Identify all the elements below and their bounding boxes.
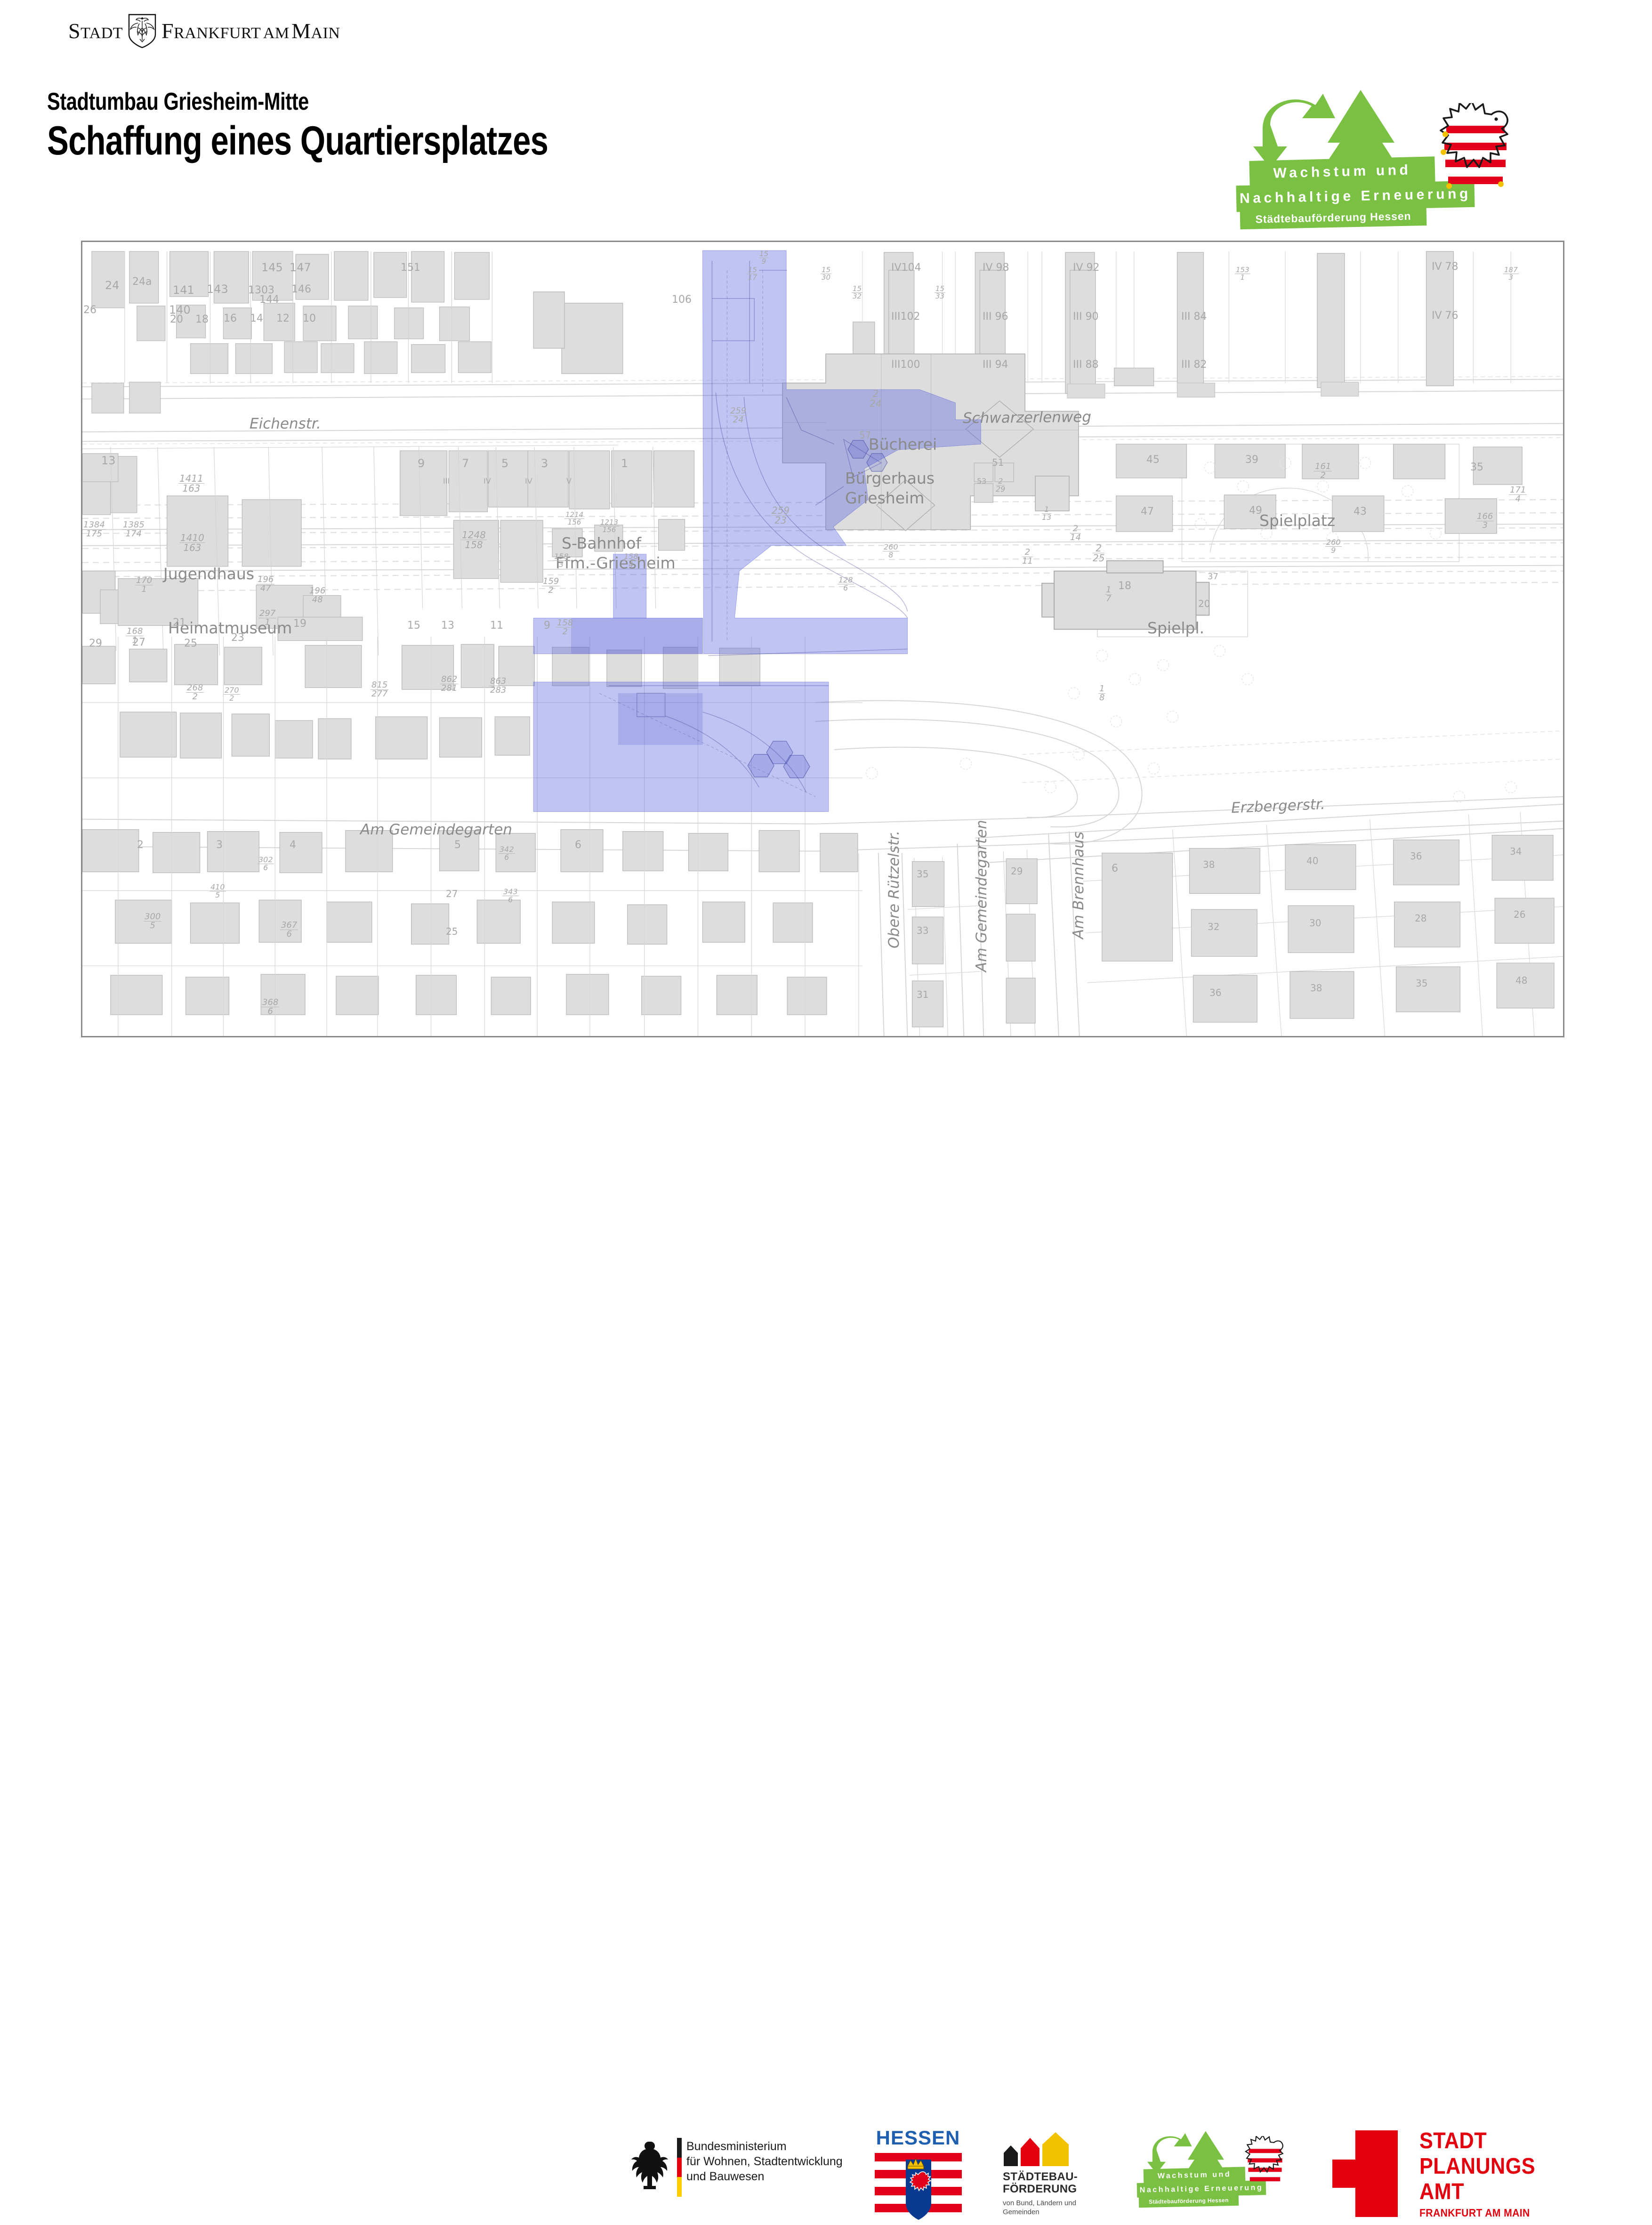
parcel-number: III 82 xyxy=(1181,359,1207,371)
parcel-number: 32 xyxy=(1208,921,1219,932)
parcel-fraction: 225 xyxy=(1093,543,1104,563)
parcel-fraction: 229 xyxy=(996,477,1005,493)
parcel-fraction: 25923 xyxy=(771,506,790,525)
parcel-number: 37 xyxy=(1208,572,1218,582)
parcel-number: 25 xyxy=(184,638,197,649)
parcel-number: 38 xyxy=(1203,859,1215,870)
parcel-number: 21 xyxy=(173,617,186,629)
parcel-fraction: 1714 xyxy=(1509,486,1527,503)
parcel-number: 144 xyxy=(259,294,279,306)
map-street-label: Am Gemeindegarten xyxy=(973,820,990,972)
parcel-number: 12 xyxy=(276,313,290,324)
parcel-fraction: 224 xyxy=(870,389,881,408)
parcel-fraction: 1248158 xyxy=(461,530,487,550)
parcel-fraction: 3005 xyxy=(144,913,161,930)
parcel-fraction: 19648 xyxy=(308,587,326,604)
stadtplanungsamt-title: STADT PLANUNGS AMT xyxy=(1419,2128,1535,2204)
parcel-fraction: 1582 xyxy=(556,619,574,636)
parcel-number: 16 xyxy=(224,313,237,324)
parcel-number: III 88 xyxy=(1073,359,1098,371)
program-logo-band-3: Städtebauförderung Hessen xyxy=(1240,206,1427,229)
stadtplanungsamt-line-2: PLANUNGS xyxy=(1419,2154,1535,2179)
page-footer: Bundesministerium für Wohnen, Stadtentwi… xyxy=(0,1060,1652,1168)
parcel-number: 36 xyxy=(1209,987,1221,998)
bmwsb-line-3: und Bauwesen xyxy=(686,2169,843,2184)
stadtplanungsamt-subtitle: FRANKFURT AM MAIN xyxy=(1419,2207,1530,2219)
parcel-number: IV104 xyxy=(891,262,921,274)
hessen-title: HESSEN xyxy=(873,2127,963,2149)
parcel-fraction: 2608 xyxy=(883,543,899,559)
parcel-number: 5 xyxy=(454,839,461,851)
map-street-label: Am Gemeindegarten xyxy=(360,821,512,838)
parcel-fraction: 4105 xyxy=(210,883,226,899)
parcel-fraction: 863283 xyxy=(489,677,507,695)
parcel-number: 35 xyxy=(1470,461,1483,473)
program-logo-line-1: Wachstum und xyxy=(1273,162,1411,181)
parcel-number: 5 xyxy=(501,457,508,470)
parcel-number: III 96 xyxy=(983,311,1008,323)
parcel-number: 3 xyxy=(541,457,548,470)
parcel-fraction: 3426 xyxy=(499,846,515,861)
parcel-number: 13 xyxy=(441,620,454,631)
map-place-label: Spielpl. xyxy=(1147,619,1204,637)
program-logo-line-1: Wachstum und xyxy=(1158,2170,1232,2181)
program-logo-line-3: Städtebauförderung Hessen xyxy=(1255,210,1411,226)
parcel-number: 1 xyxy=(621,457,628,470)
city-logo-frankfurt-am-main: FRANKFURT AM MAIN xyxy=(161,20,340,42)
parcel-number: 27 xyxy=(446,888,458,899)
parcel-number: 9 xyxy=(544,620,550,631)
parcel-number: 6 xyxy=(1112,863,1118,874)
parcel-number: 13 xyxy=(101,454,116,467)
parcel-number: 24 xyxy=(105,279,120,292)
parcel-number: 2 xyxy=(137,839,144,851)
parcel-fraction: 862281 xyxy=(440,675,458,693)
page-header: STADT FRANKFUR xyxy=(0,0,1652,221)
parcel-number: 10 xyxy=(303,313,316,324)
parcel-number: 11 xyxy=(490,620,503,631)
parcel-number: 27 xyxy=(132,637,145,648)
parcel-fraction: 1411163 xyxy=(178,474,204,493)
parcel-number: IV 76 xyxy=(1432,310,1459,322)
parcel-fraction: 1531 xyxy=(1235,267,1250,281)
map-place-label: S-Bahnhof xyxy=(562,534,641,552)
parcel-fraction: 1286 xyxy=(838,576,854,592)
parcel-number: III 90 xyxy=(1073,311,1098,323)
parcel-number: 30 xyxy=(1309,917,1321,929)
parcel-fraction: 1532 xyxy=(852,285,862,300)
parcel-fraction: 1592 xyxy=(542,577,560,595)
parcel-number: 51 xyxy=(992,457,1004,468)
parcel-fraction: 2682 xyxy=(186,684,204,701)
parcel-number: III 94 xyxy=(983,359,1008,371)
hessen-logo: HESSEN xyxy=(873,2127,963,2223)
page-title: Schaffung eines Quartiersplatzes xyxy=(47,118,548,164)
bmwsb-label: Bundesministerium für Wohnen, Stadtentwi… xyxy=(686,2139,843,2184)
parcel-number: 14 xyxy=(250,313,263,324)
parcel-number: 53 xyxy=(977,477,986,485)
map-vector-layer xyxy=(82,242,1563,1037)
map-place-label: Griesheim xyxy=(845,489,924,507)
parcel-number: 147 xyxy=(290,261,311,274)
parcel-fraction: 2702 xyxy=(224,687,240,702)
parcel-fraction: 1385174 xyxy=(122,521,145,538)
parcel-fraction: 1214156 xyxy=(564,511,584,526)
parcel-number: 24a xyxy=(132,276,152,288)
parcel-fraction: 211 xyxy=(1022,548,1033,566)
parcel-number: 141 xyxy=(173,283,194,297)
parcel-number: 23 xyxy=(231,632,244,644)
parcel-number: 29 xyxy=(89,638,102,649)
parcel-number: 146 xyxy=(291,283,311,295)
parcel-fraction: 2971 xyxy=(258,609,276,627)
map-place-label: Bürgerhaus xyxy=(845,469,935,487)
spa-block-mark-icon xyxy=(1332,2130,1403,2217)
parcel-number: 48 xyxy=(1515,975,1527,986)
staedtebaufoerderung-sub-2: Gemeinden xyxy=(1003,2208,1116,2217)
parcel-number: III102 xyxy=(891,311,920,323)
parcel-fraction: 3436 xyxy=(502,888,519,904)
city-of-frankfurt-logo: STADT FRANKFUR xyxy=(68,13,370,49)
parcel-number: 18 xyxy=(195,314,209,325)
program-logo-line-3: Städtebauförderung Hessen xyxy=(1149,2197,1229,2205)
parcel-number: 143 xyxy=(207,283,228,296)
parcel-number: 49 xyxy=(1249,505,1262,517)
parcel-number: 36 xyxy=(1410,850,1422,862)
parcel-number: 20 xyxy=(170,314,183,325)
parcel-level: IV xyxy=(484,477,491,485)
parcel-fraction: 1517 xyxy=(747,267,758,281)
project-subtitle: Stadtumbau Griesheim-Mitte xyxy=(47,88,309,116)
parcel-fraction: 1612 xyxy=(1314,462,1332,480)
parcel-number: 9 xyxy=(418,457,425,470)
cadastral-map[interactable]: Eichenstr. Schwarzerlenweg Am Gemeindega… xyxy=(81,241,1564,1037)
parcel-fraction: 1583 xyxy=(553,553,570,568)
map-place-label: Ffm.-Griesheim xyxy=(556,554,676,572)
parcel-number: 39 xyxy=(1245,454,1258,466)
parcel-fraction: 815277 xyxy=(371,681,388,698)
staedtebaufoerderung-logo: STÄDTEBAU- FÖRDERUNG von Bund, Ländern u… xyxy=(1003,2132,1116,2224)
parcel-fraction: 3026 xyxy=(258,856,274,872)
parcel-fraction: 1384175 xyxy=(82,521,106,538)
parcel-fraction: 1663 xyxy=(1476,512,1494,530)
parcel-fraction: 3686 xyxy=(261,998,279,1016)
bundesadler-icon xyxy=(626,2140,671,2195)
parcel-fraction: 18 xyxy=(1098,685,1105,702)
map-street-label: Eichenstr. xyxy=(250,415,321,432)
stadtplanungsamt-logo: STADT PLANUNGS AMT FRANKFURT AM MAIN xyxy=(1332,2128,1596,2220)
three-houses-icon xyxy=(1003,2132,1116,2166)
german-flag-bar xyxy=(677,2138,682,2197)
parcel-number: 28 xyxy=(1415,913,1426,924)
parcel-number: 20 xyxy=(1198,598,1210,609)
stadtplanungsamt-line-3: AMT xyxy=(1419,2179,1535,2205)
staedtebaufoerderung-line-1: STÄDTEBAU- xyxy=(1003,2171,1116,2183)
parcel-number: 26 xyxy=(1514,909,1525,920)
parcel-fraction: 1410163 xyxy=(179,533,205,552)
parcel-fraction: 25924 xyxy=(729,407,747,424)
stadtplanungsamt-line-1: STADT xyxy=(1419,2128,1535,2154)
parcel-number: 26 xyxy=(83,304,97,316)
parcel-fraction: 19647 xyxy=(257,575,274,593)
parcel-number: III100 xyxy=(891,359,920,371)
parcel-number: 45 xyxy=(1146,454,1160,466)
parcel-fraction: 1701 xyxy=(135,576,153,594)
staedtebaufoerderung-title: STÄDTEBAU- FÖRDERUNG xyxy=(1003,2171,1116,2196)
parcel-fraction: 1873 xyxy=(1503,267,1519,281)
parcel-level: V xyxy=(566,477,572,485)
map-street-label: Am Brennhaus xyxy=(1070,832,1087,939)
parcel-level: IV xyxy=(525,477,532,485)
parcel-number: 33 xyxy=(917,925,928,936)
map-street-label: Obere Rützelstr. xyxy=(886,831,903,948)
bmwsb-line-2: für Wohnen, Stadtentwicklung xyxy=(686,2154,843,2169)
parcel-number: 40 xyxy=(1306,855,1318,866)
bmwsb-line-1: Bundesministerium xyxy=(686,2139,843,2154)
parcel-number: IV 92 xyxy=(1073,262,1100,274)
parcel-number: 151 xyxy=(401,262,420,274)
city-logo-stadt: STADT xyxy=(68,20,123,42)
staedtebaufoerderung-subtitle: von Bund, Ländern und Gemeinden xyxy=(1003,2199,1116,2217)
parcel-number: 4 xyxy=(290,839,296,851)
staedtebaufoerderung-line-2: FÖRDERUNG xyxy=(1003,2183,1116,2195)
parcel-fraction: 113 xyxy=(1042,506,1051,521)
parcel-number: IV 98 xyxy=(983,262,1009,274)
parcel-fraction: 214 xyxy=(1070,525,1081,542)
parcel-number: 18 xyxy=(1118,580,1131,592)
frankfurt-eagle-crest-icon xyxy=(128,14,157,49)
parcel-number: 25 xyxy=(446,926,458,937)
map-place-label: Bücherei xyxy=(869,435,937,453)
program-logo-band-3: Städtebauförderung Hessen xyxy=(1139,2194,1239,2208)
parcel-number: 35 xyxy=(917,868,928,880)
parcel-number: III 84 xyxy=(1181,311,1207,323)
parcel-number: 19 xyxy=(293,618,306,630)
parcel-number: 15 xyxy=(407,620,420,631)
hessen-lion-icon xyxy=(1433,103,1518,202)
hessen-shield-icon xyxy=(875,2152,962,2223)
parcel-fraction: 3676 xyxy=(280,921,298,939)
parcel-number: 29 xyxy=(1011,866,1023,877)
parcel-number: 38 xyxy=(1310,982,1322,994)
parcel-number: IV 78 xyxy=(1432,261,1459,273)
parcel-number: 34 xyxy=(1510,846,1522,857)
parcel-number: 3 xyxy=(216,839,223,851)
map-place-label: Spielplatz xyxy=(1259,511,1335,530)
parcel-number: 43 xyxy=(1354,506,1367,518)
parcel-fraction: 159 xyxy=(758,251,769,265)
parcel-number: 47 xyxy=(1141,506,1154,518)
bmwsb-logo: Bundesministerium für Wohnen, Stadtentwi… xyxy=(626,2138,852,2199)
hessen-lion-icon xyxy=(1241,2136,1289,2192)
staedtebaufoerderung-sub-1: von Bund, Ländern und xyxy=(1003,2199,1116,2208)
parcel-number: 35 xyxy=(1416,978,1427,989)
parcel-level: III xyxy=(443,477,450,485)
parcel-number: 145 xyxy=(261,261,283,274)
parcel-number: 7 xyxy=(462,457,469,470)
wachstum-und-nachhaltige-erneuerung-logo-footer: Wachstum und Nachhaltige Erneuerung Städ… xyxy=(1142,2129,1297,2214)
parcel-fraction: 1530 xyxy=(821,267,831,281)
parcel-fraction: 1533 xyxy=(935,285,945,300)
parcel-fraction: 1584 xyxy=(623,553,639,568)
parcel-fraction: 1213156 xyxy=(599,519,619,534)
map-place-label: Jugendhaus xyxy=(163,565,254,583)
parcel-fraction: 17 xyxy=(1105,586,1112,603)
parcel-number: 57 xyxy=(859,429,871,441)
parcel-fraction: 2609 xyxy=(1325,539,1342,554)
parcel-number: 31 xyxy=(917,989,928,1000)
parcel-number: 6 xyxy=(575,839,581,851)
wachstum-und-nachhaltige-erneuerung-logo: Wachstum und Nachhaltige Erneuerung Städ… xyxy=(1243,87,1535,233)
map-street-label: Schwarzerlenweg xyxy=(963,409,1091,427)
parcel-number: 106 xyxy=(672,294,692,306)
